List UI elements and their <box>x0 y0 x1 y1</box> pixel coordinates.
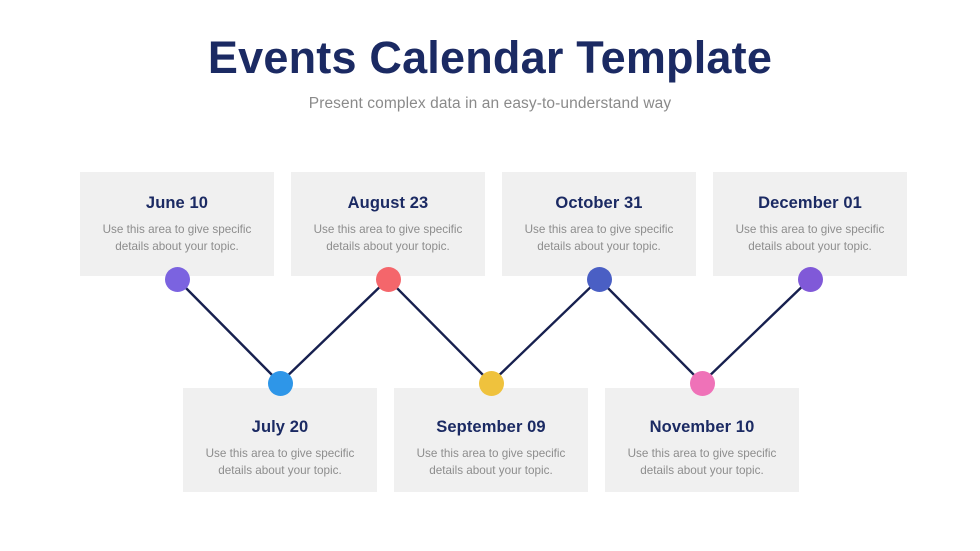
timeline-milestone-dot-september-09[interactable] <box>479 371 504 396</box>
slide-canvas: Events Calendar Template Present complex… <box>0 0 980 551</box>
timeline-card-description: Use this area to give specific details a… <box>303 222 473 256</box>
timeline-card-date: June 10 <box>92 172 262 213</box>
timeline-card-october-31[interactable]: October 31Use this area to give specific… <box>502 172 696 276</box>
timeline-card-june-10[interactable]: June 10Use this area to give specific de… <box>80 172 274 276</box>
timeline-milestone-dot-august-23[interactable] <box>376 267 401 292</box>
timeline-card-date: October 31 <box>514 172 684 213</box>
timeline-milestone-dot-june-10[interactable] <box>165 267 190 292</box>
timeline-card-november-10[interactable]: November 10Use this area to give specifi… <box>605 388 799 492</box>
timeline-milestone-dot-july-20[interactable] <box>268 371 293 396</box>
timeline-card-description: Use this area to give specific details a… <box>195 446 365 480</box>
timeline-stage: June 10Use this area to give specific de… <box>0 0 980 551</box>
timeline-card-september-09[interactable]: September 09Use this area to give specif… <box>394 388 588 492</box>
timeline-milestone-dot-december-01[interactable] <box>798 267 823 292</box>
timeline-card-description: Use this area to give specific details a… <box>725 222 895 256</box>
timeline-card-description: Use this area to give specific details a… <box>617 446 787 480</box>
timeline-card-december-01[interactable]: December 01Use this area to give specifi… <box>713 172 907 276</box>
timeline-card-date: August 23 <box>303 172 473 213</box>
timeline-card-august-23[interactable]: August 23Use this area to give specific … <box>291 172 485 276</box>
timeline-milestone-dot-november-10[interactable] <box>690 371 715 396</box>
timeline-card-description: Use this area to give specific details a… <box>92 222 262 256</box>
timeline-card-description: Use this area to give specific details a… <box>514 222 684 256</box>
timeline-card-july-20[interactable]: July 20Use this area to give specific de… <box>183 388 377 492</box>
timeline-card-description: Use this area to give specific details a… <box>406 446 576 480</box>
timeline-milestone-dot-october-31[interactable] <box>587 267 612 292</box>
timeline-card-date: December 01 <box>725 172 895 213</box>
